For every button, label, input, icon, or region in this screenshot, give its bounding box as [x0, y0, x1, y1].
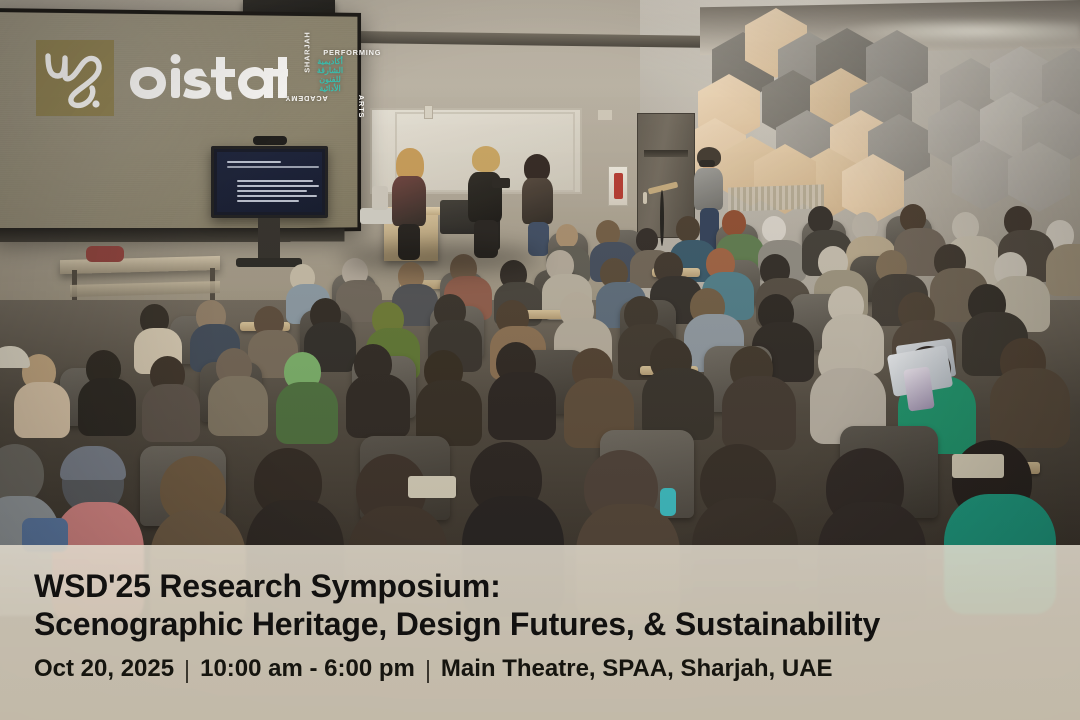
audience-head [0, 444, 44, 504]
audience-head [762, 216, 786, 242]
event-time: 10:00 am - 6:00 pm [200, 655, 415, 683]
webcam [253, 136, 287, 145]
fire-extinguisher-cabinet [608, 166, 628, 206]
door-vent [644, 150, 688, 157]
spaa-arabic-text: أكاديمية الشارقة للفنون الأدائية [317, 57, 343, 93]
hexagonal-acoustic-panels [690, 18, 1080, 203]
caption-banner: WSD'25 Research Symposium: Scenographic … [0, 545, 1080, 720]
event-meta: Oct 20, 2025 10:00 am - 6:00 pm Main The… [34, 655, 1054, 683]
presentation-slide [217, 152, 322, 212]
spaa-top-text: PERFORMING [323, 48, 381, 57]
event-venue: Main Theatre, SPAA, Sharjah, UAE [441, 655, 833, 683]
door-handle [643, 192, 647, 204]
audience-head [556, 224, 578, 248]
document-camera [372, 186, 388, 210]
event-title-line-1: WSD'25 Research Symposium: [34, 567, 1054, 605]
wall-outlet [424, 105, 433, 119]
spaa-left-text: SHARJAH [303, 31, 312, 72]
spaa-right-text: ARTS [357, 95, 366, 118]
audience-head [636, 228, 658, 252]
face-mask [699, 160, 715, 167]
spaa-arabic-line-2: الشارقة [317, 66, 343, 75]
cap [60, 446, 126, 480]
event-banner-image: PERFORMING SHARJAH ARTS ACADEMY أكاديمية… [0, 0, 1080, 720]
presentation-monitor [211, 146, 328, 218]
laptop [360, 208, 394, 224]
wall-radiator [728, 184, 824, 211]
notebook [408, 476, 456, 498]
wsd-logo [36, 40, 114, 116]
spaa-bottom-text: ACADEMY [285, 94, 328, 103]
music-stand-pole [660, 190, 664, 246]
spaa-arabic-line-1: أكاديمية [317, 57, 343, 66]
meta-separator-1 [186, 660, 188, 683]
spaa-arabic-line-3: للفنون [317, 75, 343, 84]
audience-head [808, 206, 833, 233]
meta-separator-2 [427, 660, 429, 683]
audience-head [676, 216, 700, 242]
spaa-arabic-line-4: الأدائية [317, 84, 343, 93]
event-date: Oct 20, 2025 [34, 655, 174, 683]
wall-plate [598, 110, 612, 120]
tablet-held [492, 178, 510, 188]
cap [0, 346, 30, 368]
notebook [952, 454, 1004, 478]
event-title-line-2: Scenographic Heritage, Design Futures, &… [34, 605, 1054, 643]
water-bottle [660, 488, 676, 516]
oistat-logo [128, 47, 288, 109]
projection-screen-rail [0, 228, 345, 242]
audience-head [722, 210, 746, 236]
